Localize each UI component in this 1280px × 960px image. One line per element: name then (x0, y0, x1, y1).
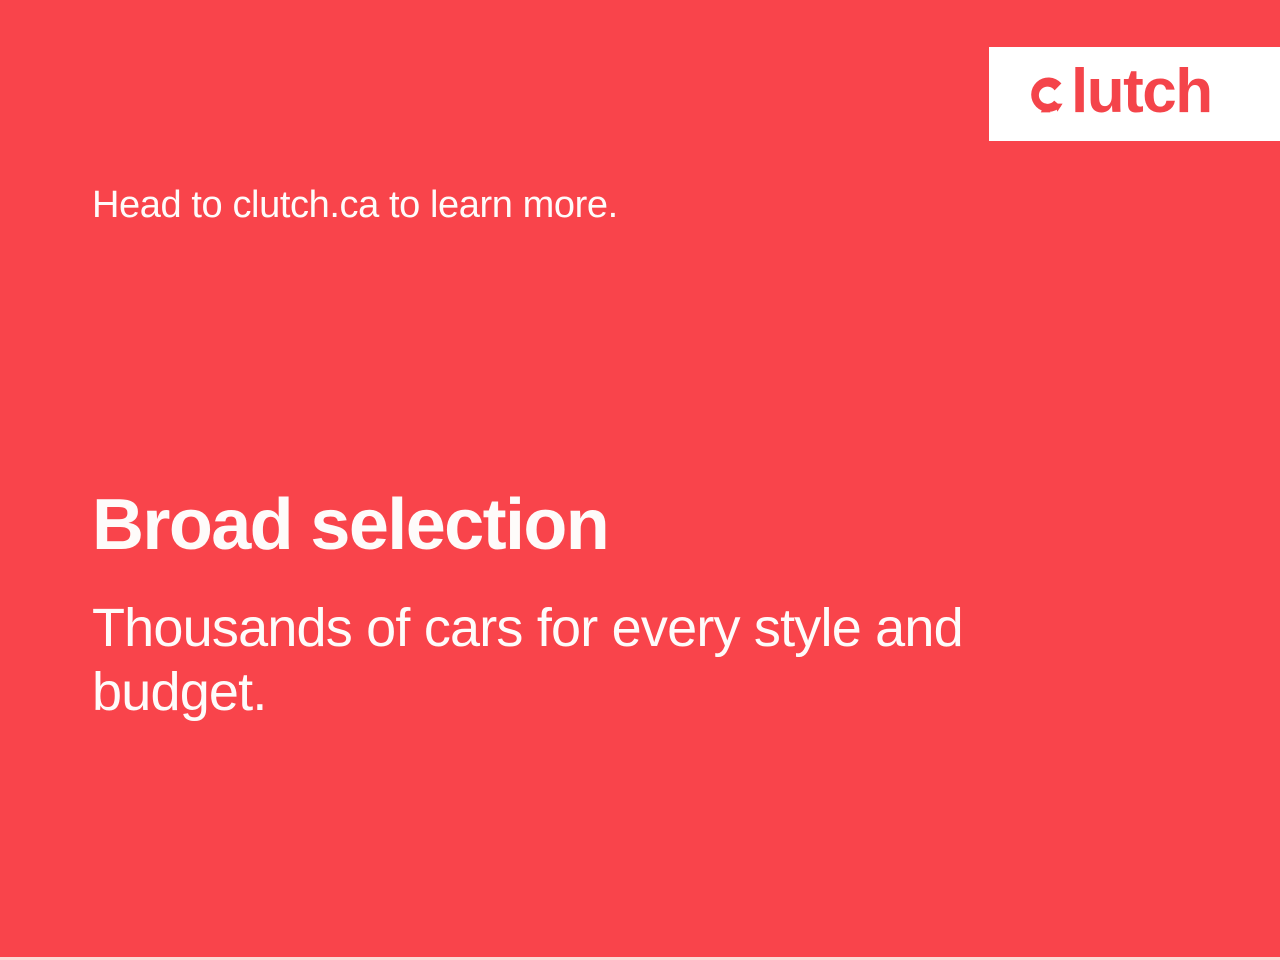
clutch-logo-lockup: lutch (1023, 63, 1212, 125)
brand-logo-plate[interactable]: lutch (989, 47, 1280, 141)
eyebrow-text: Head to clutch.ca to learn more. (92, 183, 618, 229)
subtitle-text: Thousands of cars for every style and bu… (92, 597, 1042, 724)
page-title: Broad selection (92, 486, 608, 565)
clutch-wordmark: lutch (1071, 61, 1212, 123)
slide-canvas: lutch Head to clutch.ca to learn more. B… (0, 0, 1280, 960)
clutch-c-mark-icon (1023, 73, 1069, 119)
